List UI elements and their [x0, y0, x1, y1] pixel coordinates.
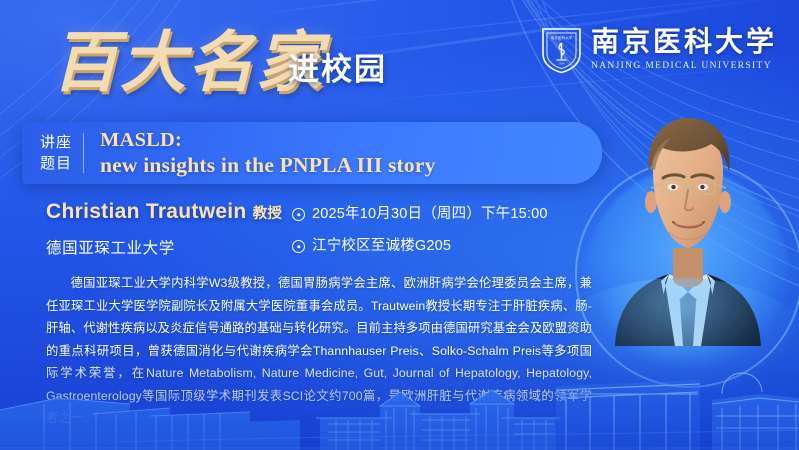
- speaker-name: Christian Trautwein: [46, 200, 247, 223]
- calligraphy-title: 百大名家: [52, 22, 324, 106]
- light-streak: [250, 0, 799, 16]
- speaker-block: Christian Trautwein教授 德国亚琛工业大学: [46, 198, 282, 261]
- event-location-row: 江宁校区至诚楼G205: [292, 234, 548, 259]
- speaker-organization: 德国亚琛工业大学: [46, 237, 282, 261]
- portrait-container: [589, 92, 785, 392]
- banner-tag-line2: 题目: [40, 155, 72, 172]
- banner-tag-line1: 讲座: [40, 134, 72, 151]
- svg-text:1934: 1934: [558, 62, 565, 66]
- university-logo: 南京医科大学 1934 南京医科大学 NANJING MEDICAL UNIVE…: [541, 26, 777, 74]
- lecture-title-line2: new insights in the PNPLA III story: [100, 153, 436, 178]
- svg-text:南京医科大学: 南京医科大学: [551, 35, 573, 40]
- lecture-title-banner: 讲座 题目 MASLD: new insights in the PNPLA I…: [22, 122, 602, 184]
- circle-dot-icon: [292, 240, 305, 253]
- lecture-title-line1: MASLD:: [100, 128, 436, 153]
- event-location: 江宁校区至诚楼G205: [312, 237, 451, 256]
- event-meta: 2025年10月30日（周四）下午15:00 江宁校区至诚楼G205: [292, 202, 548, 259]
- university-name-cn: 南京医科大学: [591, 28, 777, 58]
- banner-tag-label: 讲座 题目: [22, 132, 83, 174]
- speaker-name-row: Christian Trautwein教授: [46, 198, 282, 228]
- event-date: 2025年10月30日（周四）下午15:00: [312, 205, 548, 224]
- lecture-title: MASLD: new insights in the PNPLA III sto…: [84, 128, 436, 178]
- speaker-degree: 教授: [253, 206, 283, 222]
- event-date-row: 2025年10月30日（周四）下午15:00: [292, 202, 548, 227]
- circle-dot-icon: [292, 208, 305, 221]
- shield-crest-icon: 南京医科大学 1934: [541, 26, 582, 74]
- campus-skyline-decoration: [0, 364, 799, 450]
- university-name-en: NANJING MEDICAL UNIVERSITY: [591, 59, 772, 73]
- calligraphy-subtitle: 进校园: [288, 44, 387, 89]
- poster-root: 百大名家 进校园 南京医科大学 1934 南京医科大学 NANJING MEDI…: [0, 0, 799, 450]
